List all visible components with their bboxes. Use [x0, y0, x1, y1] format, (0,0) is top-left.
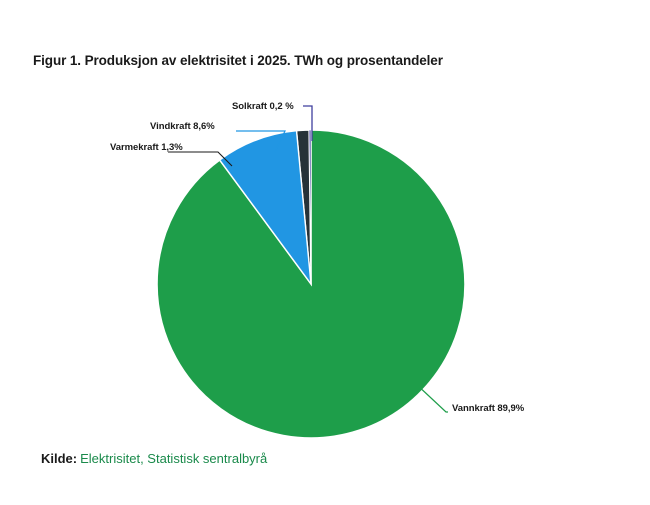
- pie-label-solkraft: Solkraft 0,2 %: [232, 101, 294, 112]
- pie-chart-svg: [0, 0, 650, 500]
- source-link[interactable]: Elektrisitet, Statistisk sentralbyrå: [80, 451, 267, 466]
- pie-chart: Solkraft 0,2 % Vindkraft 8,6% Varmekraft…: [0, 0, 650, 500]
- pie-label-vindkraft: Vindkraft 8,6%: [150, 121, 215, 132]
- pie-label-vannkraft: Vannkraft 89,9%: [452, 403, 524, 414]
- figure-container: Figur 1. Produksjon av elektrisitet i 20…: [0, 0, 650, 500]
- leader-line-vannkraft: [415, 383, 448, 412]
- pie-label-varmekraft: Varmekraft 1,3%: [110, 142, 183, 153]
- source-line: Kilde:Elektrisitet, Statistisk sentralby…: [41, 451, 267, 466]
- source-label: Kilde:: [41, 451, 77, 466]
